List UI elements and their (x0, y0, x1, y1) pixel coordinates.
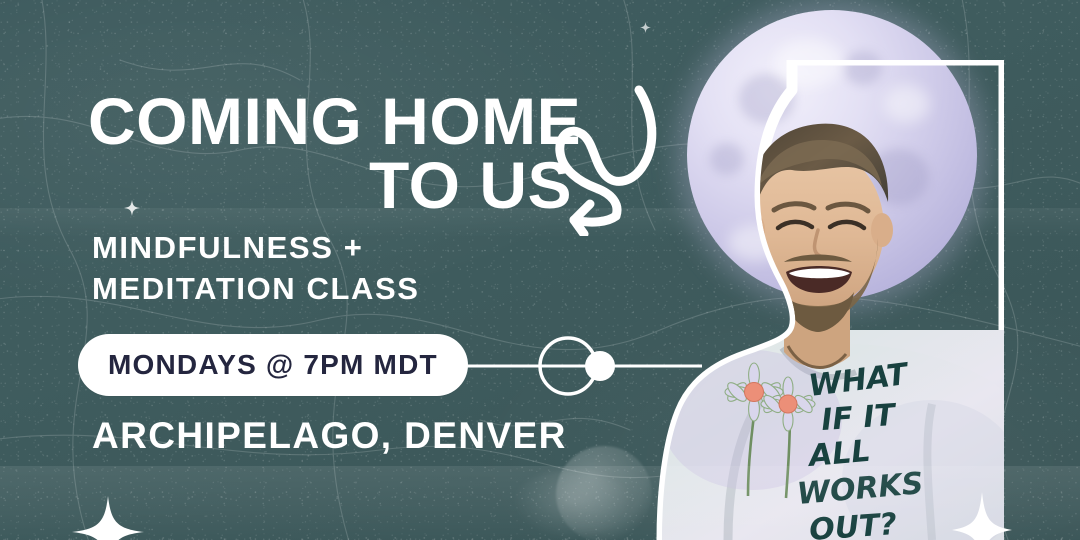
sparkle-right-icon (952, 492, 1012, 540)
poster-canvas: WHAT IF IT ALL WORKS OUT? COMING HOME TO… (0, 0, 1080, 540)
headline-line-1: COMING HOME (88, 90, 648, 153)
schedule-pill-label: MONDAYS @ 7PM MDT (108, 349, 438, 381)
sparkle-tiny-icon (124, 200, 140, 216)
svg-text:IF IT: IF IT (820, 398, 899, 438)
svg-text:OUT?: OUT? (808, 507, 898, 540)
svg-text:ALL: ALL (806, 434, 872, 474)
sparkle-tiny-icon-2 (640, 22, 651, 33)
headline-line-2: TO US (88, 154, 648, 217)
page-title: COMING HOME TO US (88, 90, 648, 217)
subtitle-line-2: MEDITATION CLASS (92, 269, 552, 310)
sparkle-left-icon (72, 496, 144, 540)
subtitle: MINDFULNESS + MEDITATION CLASS (92, 228, 552, 310)
venue-label: ARCHIPELAGO, DENVER (92, 415, 567, 457)
person-photo-cutout: WHAT IF IT ALL WORKS OUT? (632, 60, 1004, 540)
schedule-pill[interactable]: MONDAYS @ 7PM MDT (78, 334, 468, 396)
subtitle-line-1: MINDFULNESS + (92, 228, 552, 269)
